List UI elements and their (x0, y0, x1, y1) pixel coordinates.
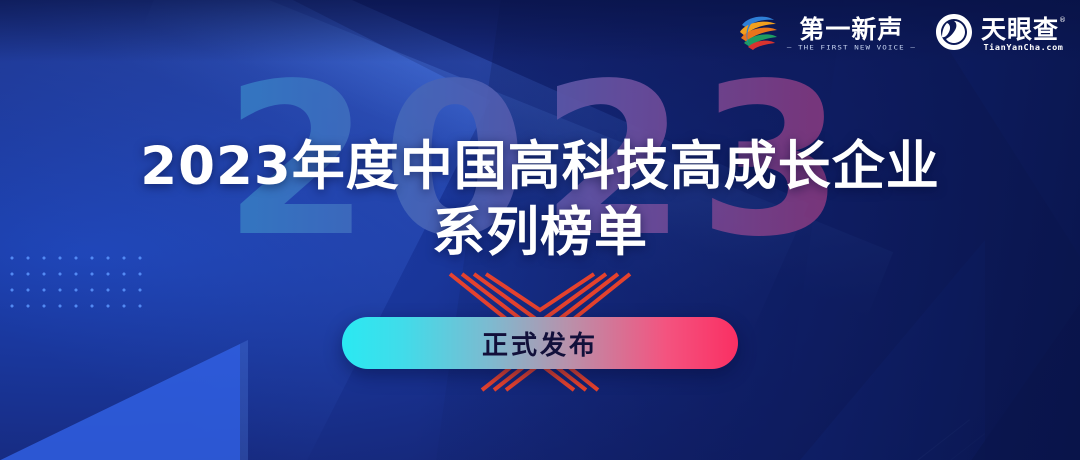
logo-tianyancha-tagline: TianYanCha.com (983, 44, 1063, 53)
swirl-logo-icon (736, 12, 780, 57)
logo-diyixinsheng-text: 第一新声 — THE FIRST NEW VOICE — (787, 16, 916, 53)
title-line-1: 2023年度中国高科技高成长企业 (0, 134, 1080, 200)
logo-diyixinsheng-tagline: — THE FIRST NEW VOICE — (787, 44, 916, 53)
logo-tianyancha[interactable]: 天眼查 ® TianYanCha.com (934, 12, 1066, 57)
logo-diyixinsheng-name: 第一新声 (799, 16, 903, 43)
registered-trademark-icon: ® (1059, 16, 1066, 24)
logo-tianyancha-text: 天眼查 ® TianYanCha.com (981, 16, 1066, 53)
page-title: 2023年度中国高科技高成长企业 系列榜单 (0, 134, 1080, 266)
release-button[interactable]: 正式发布 (342, 317, 738, 369)
eye-lens-logo-icon (934, 12, 974, 57)
logo-diyixinsheng[interactable]: 第一新声 — THE FIRST NEW VOICE — (736, 12, 916, 57)
title-line-2: 系列榜单 (0, 200, 1080, 266)
promo-banner: 2023 2023年度中国高科技高成长企业 系列榜单 正式发布 (0, 0, 1080, 460)
logo-bar: 第一新声 — THE FIRST NEW VOICE — 天眼查 ® TianY… (736, 12, 1066, 57)
logo-tianyancha-name: 天眼查 (981, 16, 1059, 43)
